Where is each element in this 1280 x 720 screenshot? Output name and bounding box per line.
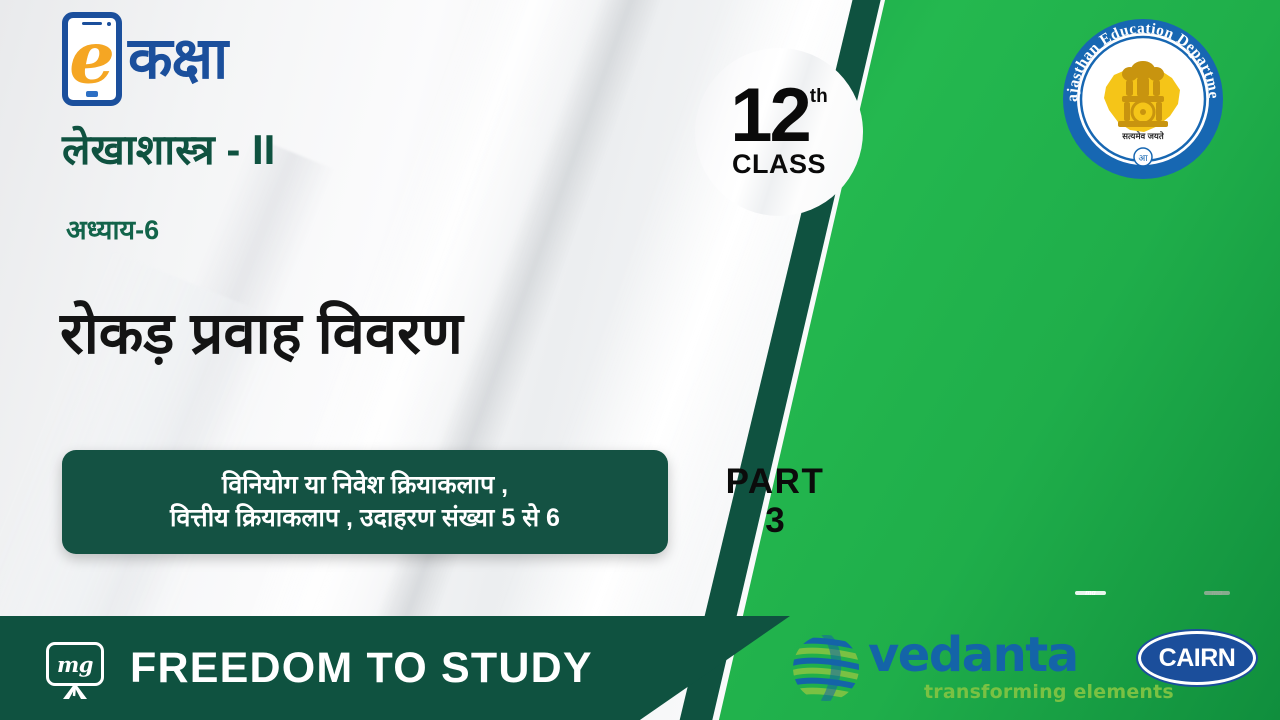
seal-inner-glyph: आ bbox=[1138, 153, 1148, 163]
vedanta-logo: vedanta transforming elements bbox=[790, 632, 1174, 704]
topic-box: विनियोग या निवेश क्रियाकलाप , वित्तीय क्… bbox=[62, 450, 668, 554]
topic-line-2: वित्तीय क्रियाकलाप , उदाहरण संख्या 5 से … bbox=[170, 502, 560, 536]
instructors-photo: mg mg bbox=[935, 215, 1280, 595]
topic-line-1: विनियोग या निवेश क्रियाकलाप , bbox=[222, 469, 508, 503]
part-indicator: PART 3 bbox=[700, 462, 850, 540]
cairn-wordmark: CAIRN bbox=[1159, 644, 1236, 673]
shirt-mg-logo: mg bbox=[1075, 591, 1107, 595]
mg-chalkboard-icon: mg bbox=[42, 638, 108, 698]
shirt-mg-logo: mg bbox=[1204, 591, 1229, 595]
seal-motto: सत्यमेव जयते bbox=[1121, 131, 1165, 141]
thumbnail-stage: mg mg 12 th CLASS bbox=[0, 0, 1280, 720]
vedanta-globe-icon bbox=[790, 632, 862, 704]
smartphone-icon: e bbox=[62, 12, 122, 106]
cairn-logo: CAIRN bbox=[1138, 631, 1256, 685]
class-number: 12 bbox=[730, 84, 809, 148]
part-number: 3 bbox=[700, 501, 850, 540]
page-title: रोकड़ प्रवाह विवरण bbox=[60, 302, 463, 367]
footer-tagline: FREEDOM TO STUDY bbox=[130, 644, 593, 693]
logo-wordmark: कक्षा bbox=[128, 30, 227, 88]
ekaksha-logo[interactable]: e कक्षा bbox=[62, 12, 227, 106]
part-label: PART bbox=[700, 462, 850, 501]
mg-logo-text: mg bbox=[46, 642, 104, 686]
class-badge: 12 th CLASS bbox=[695, 48, 863, 216]
class-label: CLASS bbox=[732, 149, 826, 180]
rajasthan-education-department-seal: Rajasthan Education Department सत्यमेव ज… bbox=[1052, 8, 1234, 190]
vedanta-tagline: transforming elements bbox=[924, 681, 1174, 703]
instructor-front: mg bbox=[953, 247, 1163, 595]
vedanta-wordmark: vedanta bbox=[868, 633, 1174, 678]
chapter-label: अध्याय-6 bbox=[66, 216, 159, 246]
ribbon-icon bbox=[55, 682, 95, 700]
class-ordinal-suffix: th bbox=[810, 89, 828, 105]
logo-e-letter: e bbox=[69, 22, 115, 94]
subject-title: लेखाशास्त्र - II bbox=[62, 128, 275, 172]
